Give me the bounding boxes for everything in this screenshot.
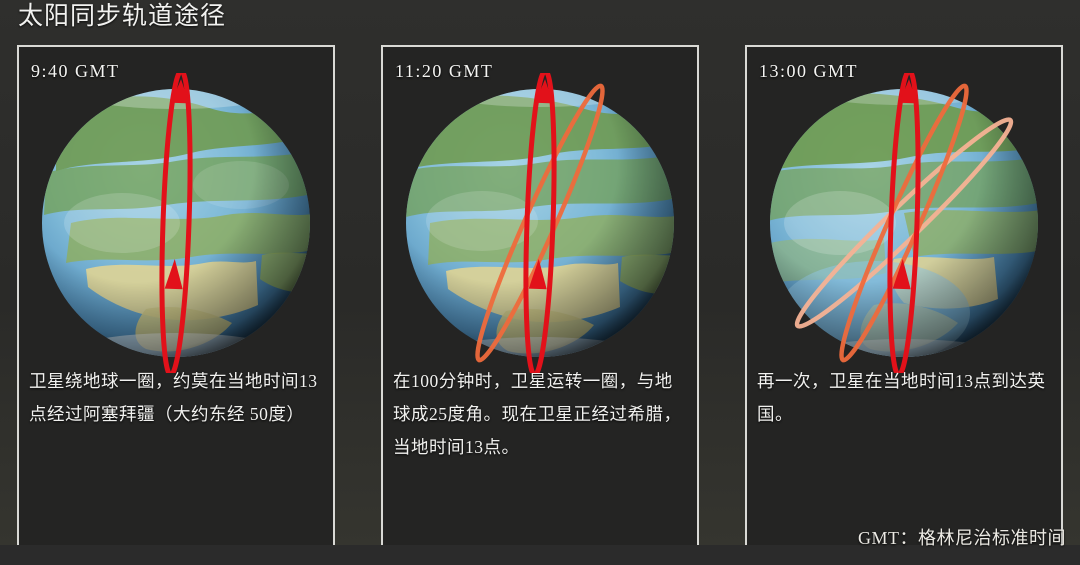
globe-terminator-shading <box>406 89 674 357</box>
panel-time-label: 9:40 GMT <box>31 61 120 82</box>
panel-time-label: 11:20 GMT <box>395 61 493 82</box>
panel-1300[interactable]: 13:00 GMT <box>745 45 1063 545</box>
panel-caption: 卫星绕地球一圈，约莫在当地时间13点经过阿塞拜疆（大约东经 50度） <box>29 365 325 431</box>
footer-note: GMT：格林尼治标准时间 <box>858 524 1066 550</box>
globe-illustration-1 <box>19 73 333 373</box>
page-title: 太阳同步轨道途径 <box>18 1 226 33</box>
globe-illustration-3 <box>747 73 1061 373</box>
panel-caption: 在100分钟时，卫星运转一圈，与地球成25度角。现在卫星正经过希腊，当地时间13… <box>393 365 689 464</box>
panel-time-label: 13:00 GMT <box>759 61 858 82</box>
panel-1120[interactable]: 11:20 GMT <box>381 45 699 545</box>
panel-940[interactable]: 9:40 GMT <box>17 45 335 545</box>
globe-svg <box>754 73 1054 373</box>
globe-terminator-shading <box>42 89 310 357</box>
panel-row: 9:40 GMT <box>17 45 1063 565</box>
slide-background: 太阳同步轨道途径 9:40 GMT <box>0 0 1080 545</box>
globe-terminator-shading <box>770 89 1038 357</box>
globe-illustration-2 <box>383 73 697 373</box>
panel-caption: 再一次，卫星在当地时间13点到达英国。 <box>757 365 1053 431</box>
globe-svg <box>26 73 326 373</box>
globe-svg <box>390 73 690 373</box>
